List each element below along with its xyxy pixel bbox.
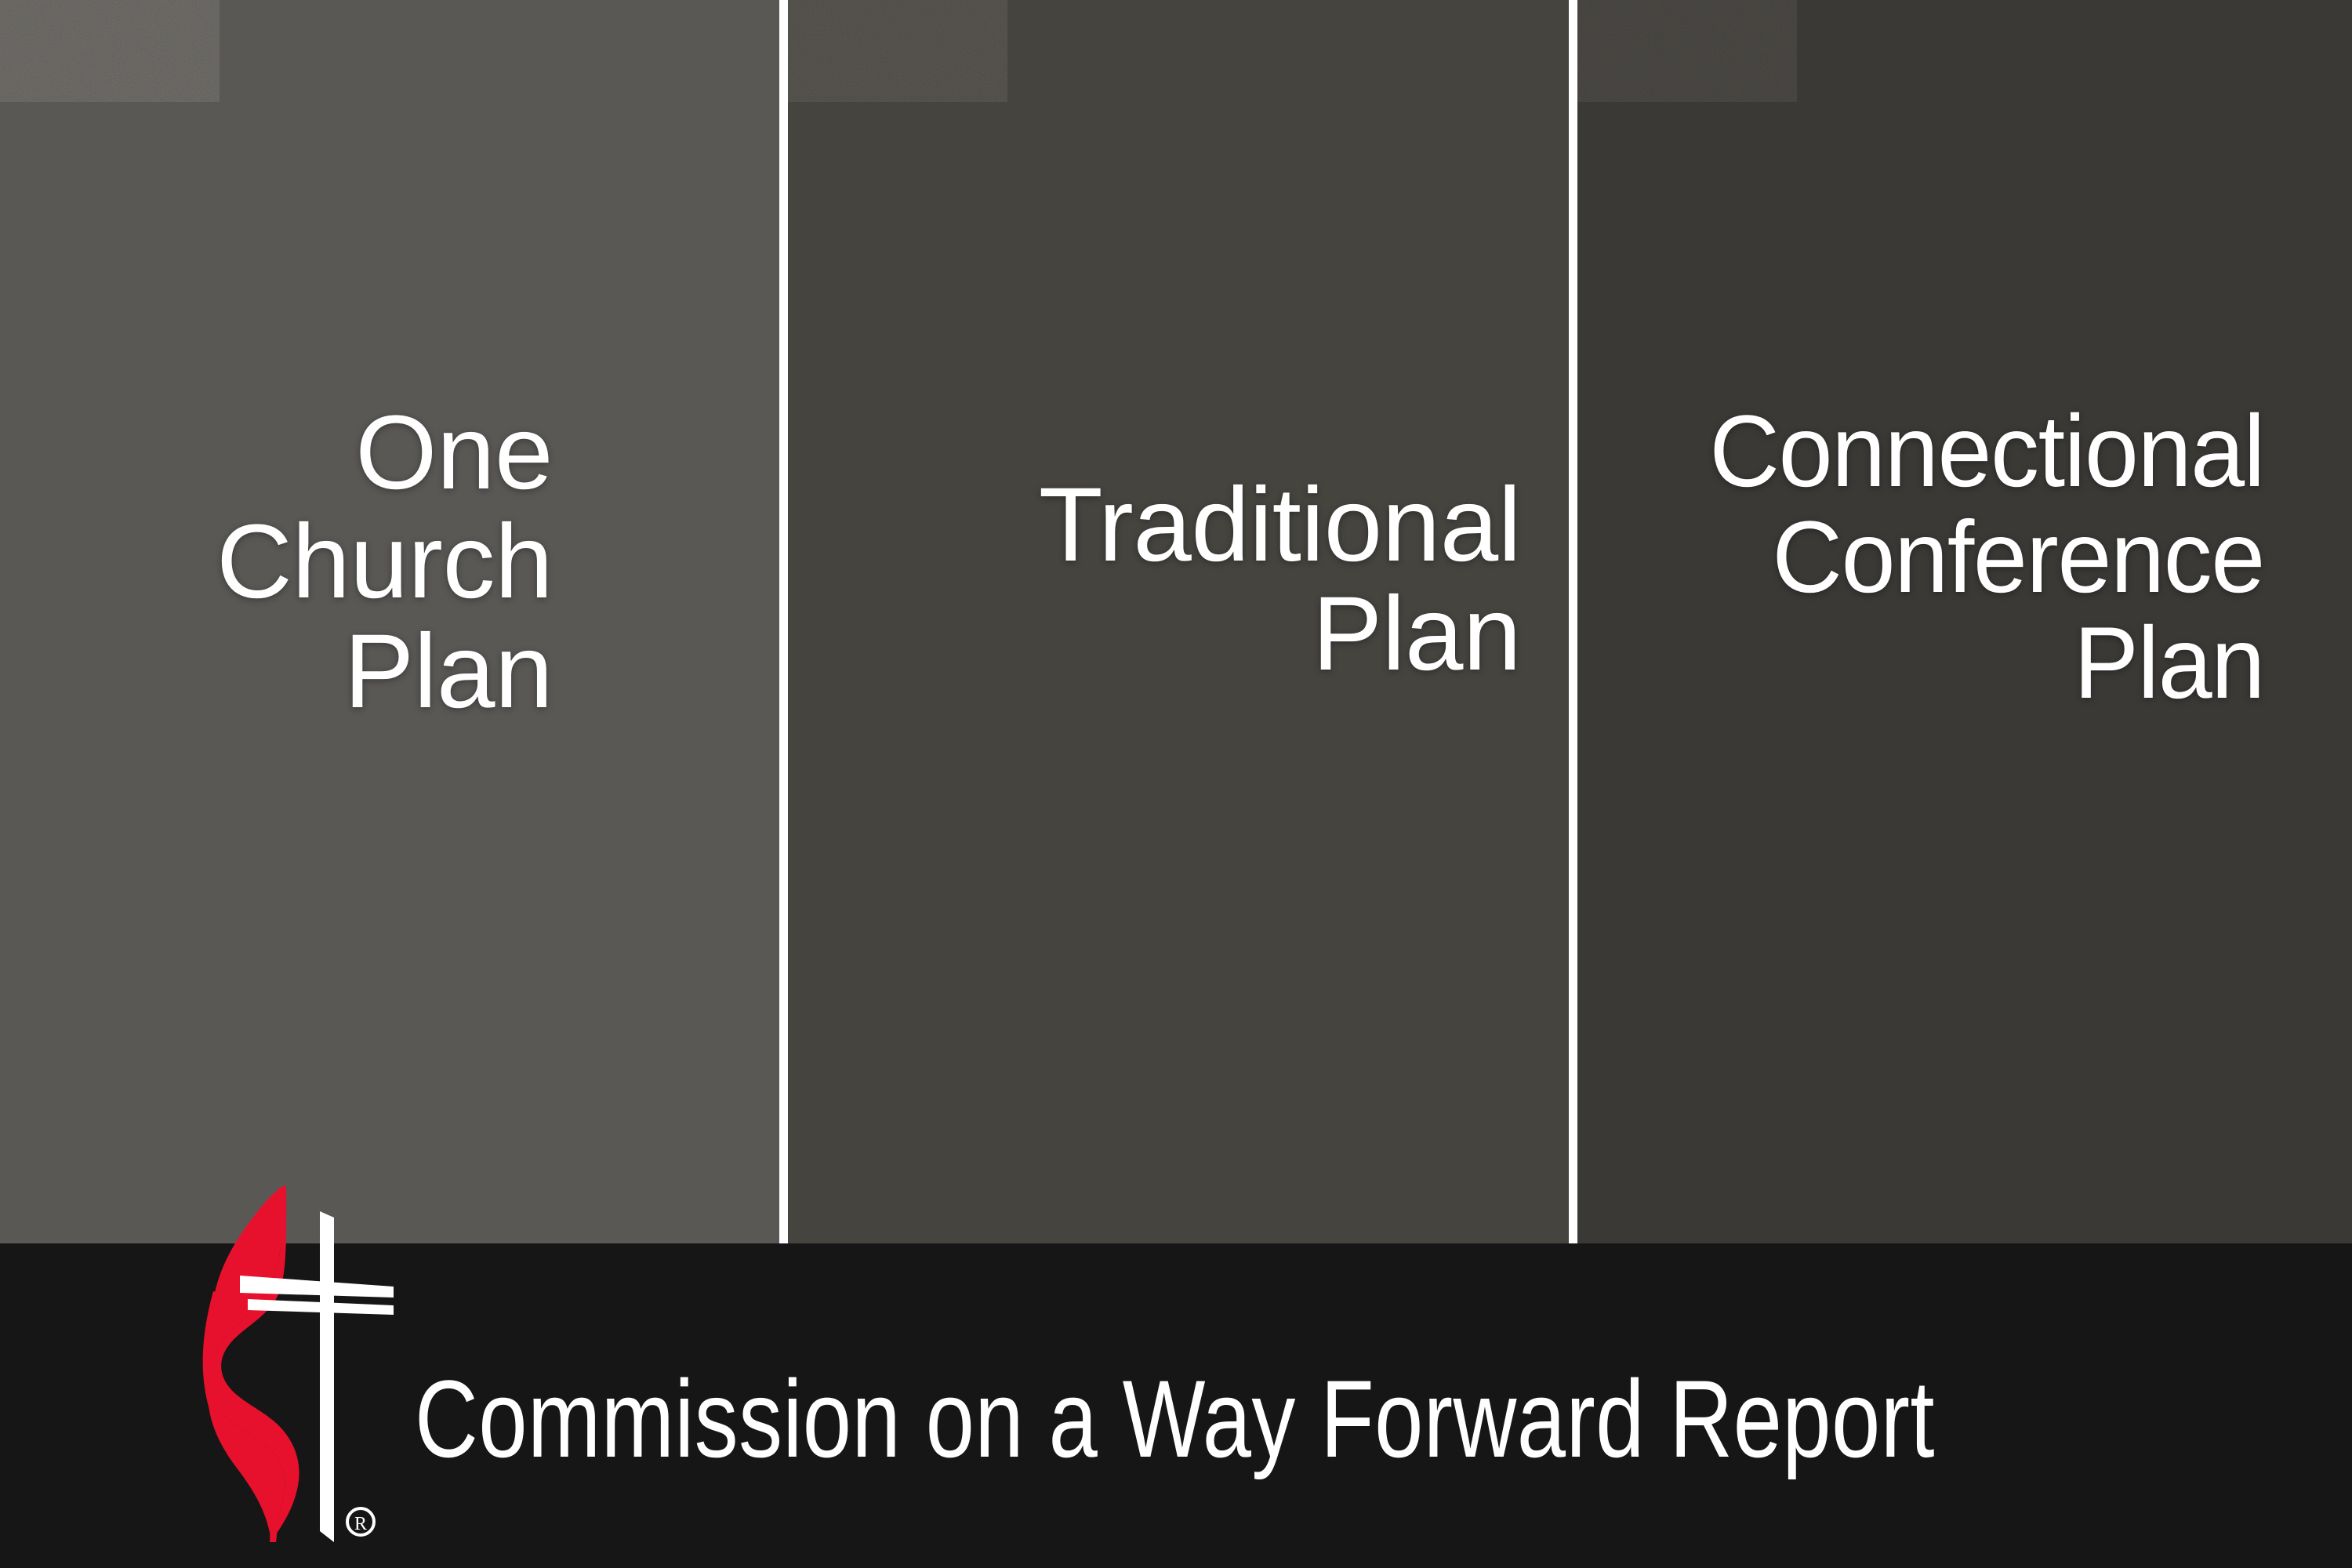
umc-cross-and-flame-logo: R [166,1180,401,1564]
panel-divider-right [1569,0,1577,1243]
plan-label-traditional: Traditional Plan [1039,470,1521,689]
plan-label-connectional-conference: Connectional Conference Plan [1709,398,2264,717]
slide-canvas: One Church Plan Traditional Plan Connect… [0,0,2352,1568]
panel-divider-left [779,0,788,1243]
cross-vertical [320,1211,334,1542]
svg-text:R: R [354,1514,367,1534]
plan-label-one-church: One Church Plan [216,398,553,726]
footer-report-title: Commission on a Way Forward Report [415,1364,1935,1474]
registered-trademark-icon: R [347,1508,374,1535]
